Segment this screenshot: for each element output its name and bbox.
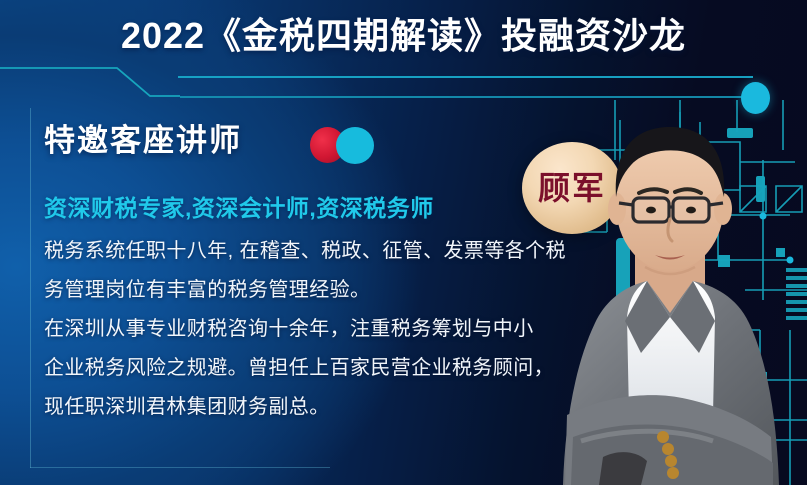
- section-heading: 特邀客座讲师: [44, 122, 242, 160]
- bio-line: 务管理岗位有丰富的税务管理经验。: [44, 271, 584, 310]
- title-underline-long: [178, 76, 753, 78]
- bio-line: 现任职深圳君林集团财务副总。: [44, 388, 584, 427]
- poster-canvas: 2022《金税四期解读》投融资沙龙 特邀客座讲师 资深财税专家,资深会计师,资深…: [0, 0, 807, 485]
- content-frame-left-line: [30, 108, 31, 468]
- content-frame-bottom-line: [30, 467, 330, 468]
- heading-dots-decoration: [310, 127, 374, 163]
- cyan-circle-icon: [336, 127, 374, 164]
- page-title: 2022《金税四期解读》投融资沙龙: [0, 14, 807, 58]
- bio-line: 税务系统任职十八年, 在稽查、税政、征管、发票等各个税: [44, 232, 584, 271]
- bio-line: 在深圳从事专业财税咨询十余年，注重税务筹划与中小: [44, 310, 584, 349]
- speaker-credentials: 资深财税专家,资深会计师,资深税务师: [44, 193, 434, 223]
- bio-line: 企业税务风险之规避。曾担任上百家民营企业税务顾问，: [44, 349, 584, 388]
- speaker-portrait: [537, 85, 807, 485]
- speaker-biography: 税务系统任职十八年, 在稽查、税政、征管、发票等各个税 务管理岗位有丰富的税务管…: [44, 232, 584, 427]
